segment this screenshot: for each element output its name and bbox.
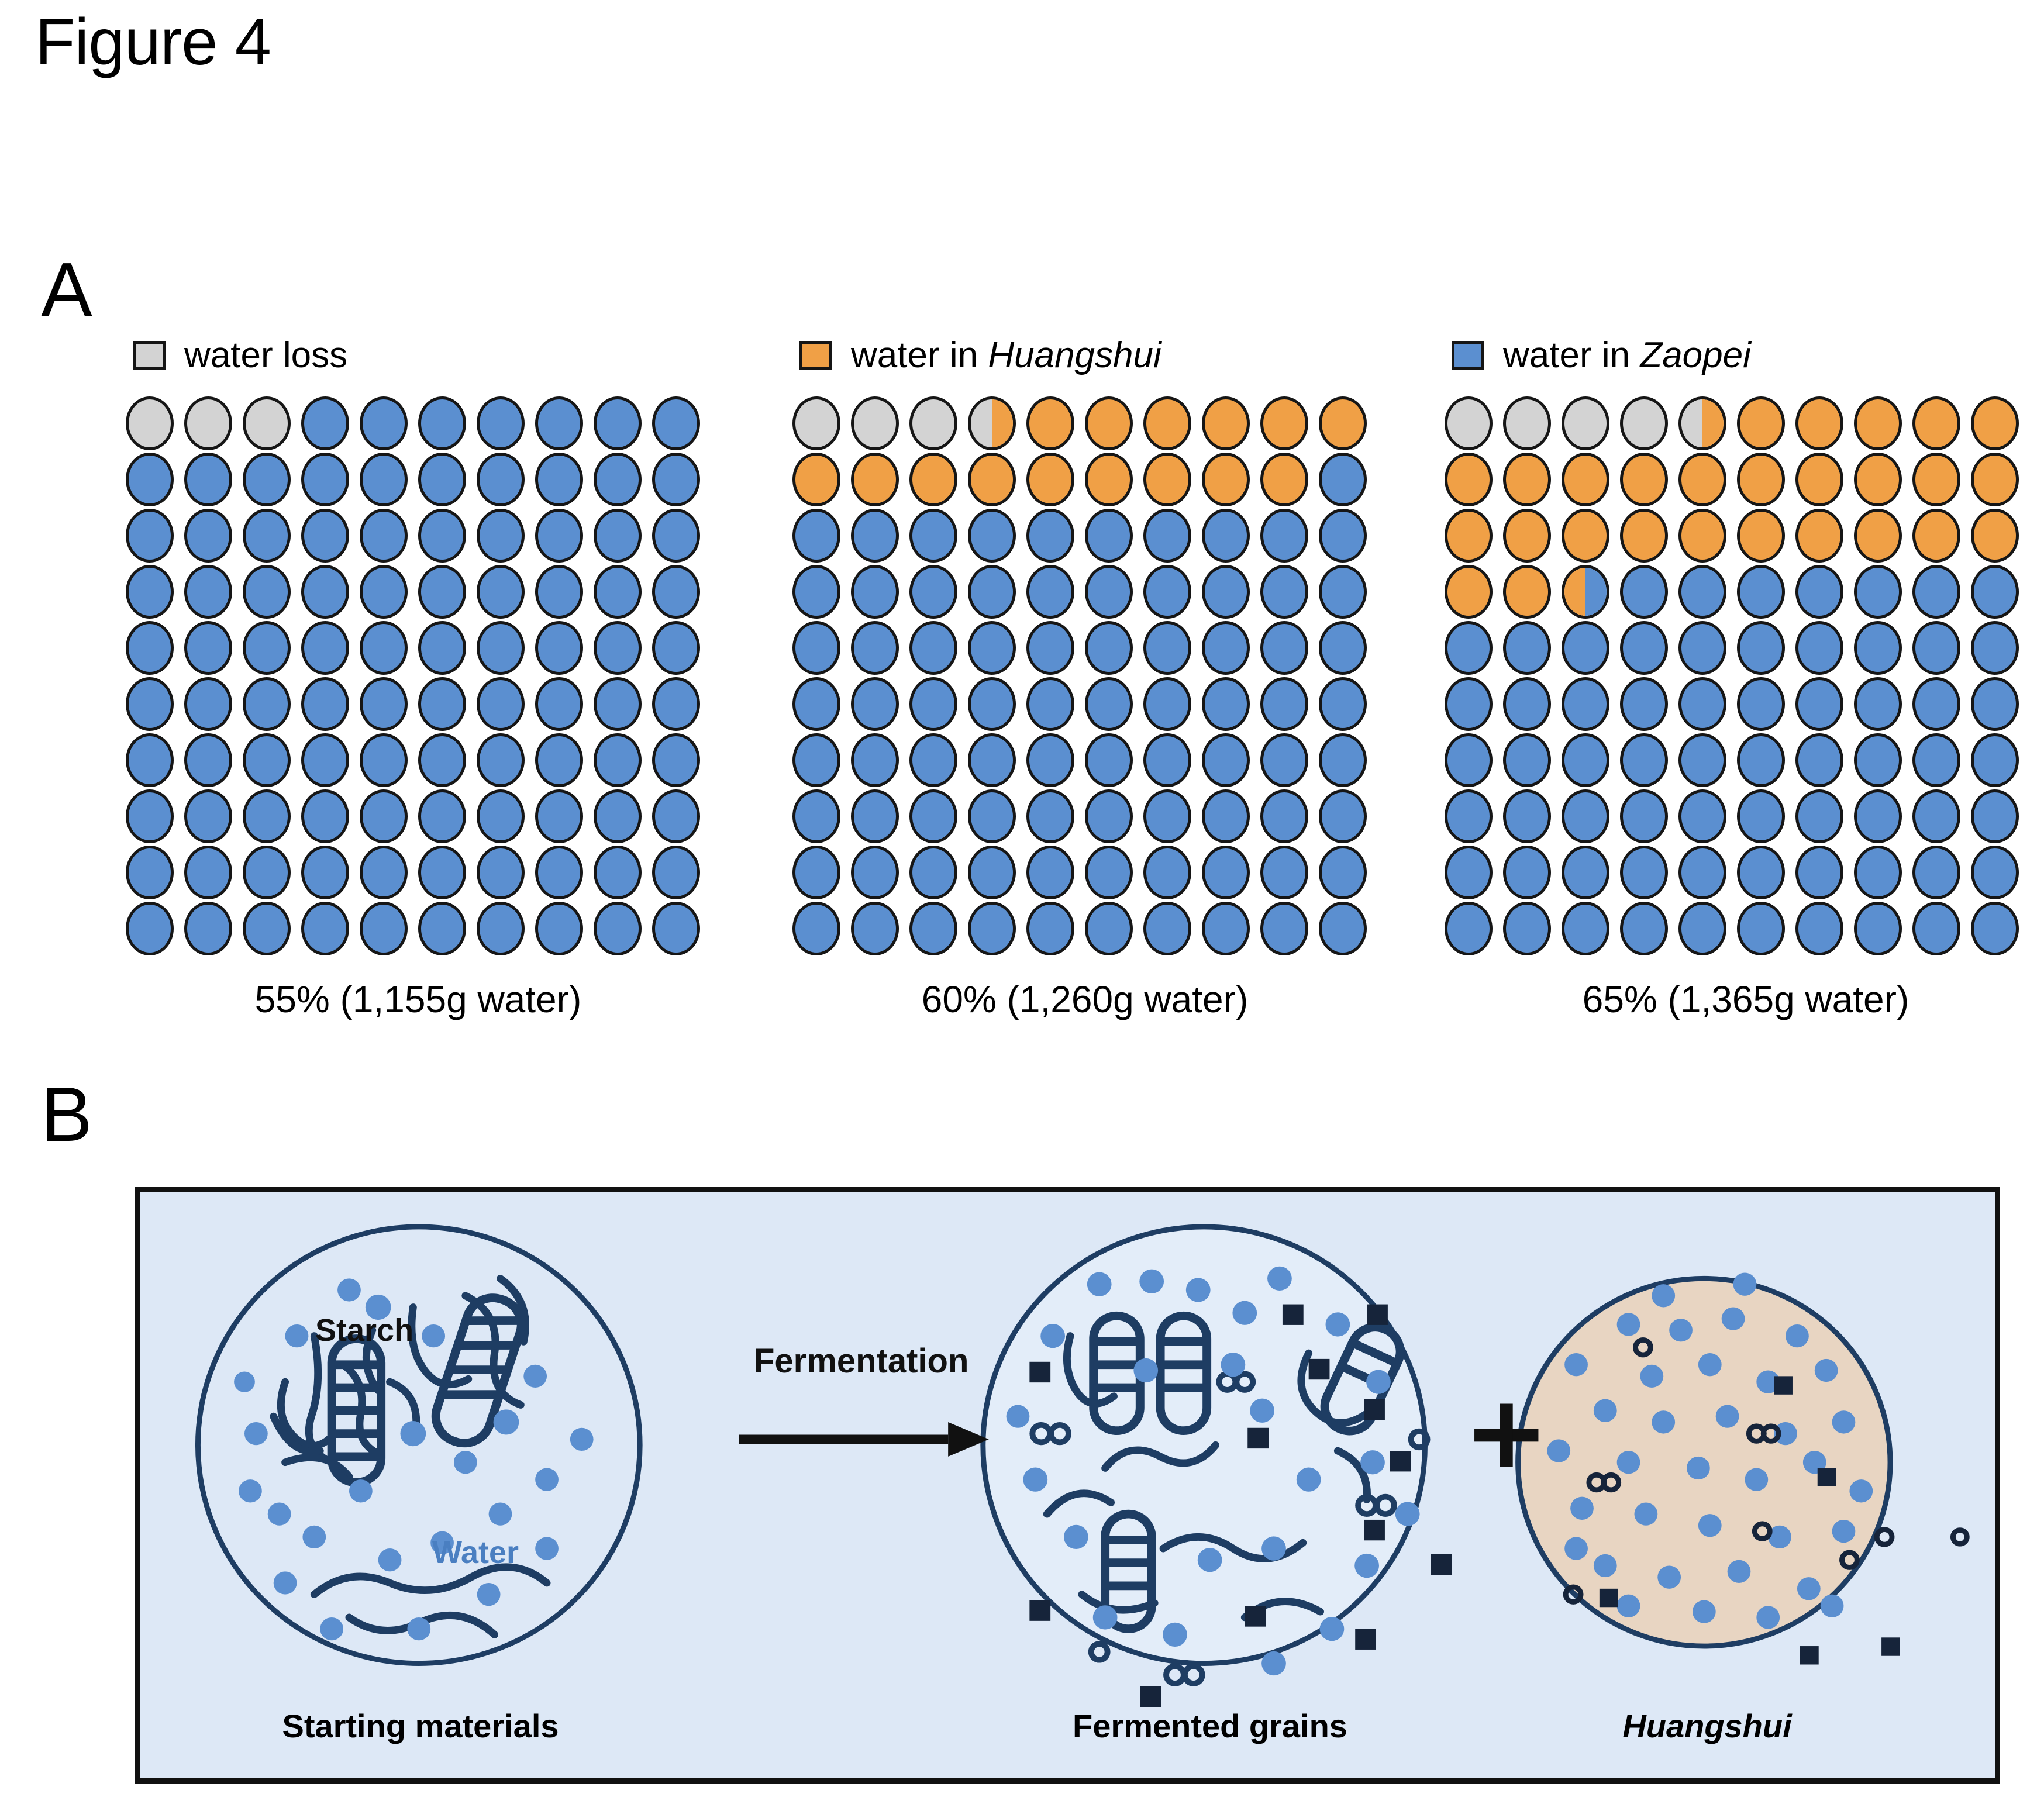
waffle-dot: [968, 453, 1016, 506]
waffle-dot: [301, 677, 349, 731]
waffle-dot: [126, 902, 174, 955]
waffle-dot: [1912, 677, 1960, 731]
waffle-dot: [1202, 846, 1250, 899]
waffle-dot: [1912, 902, 1960, 955]
waffle-dot: [1795, 396, 1843, 450]
waffle-dot: [301, 846, 349, 899]
waffle-dot: [1143, 509, 1191, 563]
waffle-dot: [851, 565, 899, 619]
waffle-dot: [1562, 509, 1609, 563]
waffle-dot: [909, 846, 957, 899]
waffle-dot: [1737, 677, 1785, 731]
waffle-dot: [1912, 565, 1960, 619]
waffle-dot: [1678, 621, 1726, 675]
waffle-dot: [301, 902, 349, 955]
waffle-caption-65: 65% (1,365g water): [1445, 978, 2044, 1021]
legend-swatch-water-in-zaopei: [1452, 341, 1484, 370]
waffle-dot: [418, 396, 466, 450]
waffle-dot: [594, 621, 642, 675]
waffle-dot: [1143, 902, 1191, 955]
waffle-dot: [1085, 733, 1133, 787]
waffle-dot: [535, 396, 583, 450]
waffle-dot: [652, 733, 700, 787]
waffle-dot: [418, 677, 466, 731]
waffle-dot: [1620, 902, 1668, 955]
waffle-dot: [360, 565, 408, 619]
waffle-dot: [243, 677, 291, 731]
waffle-dot: [1795, 677, 1843, 731]
waffle-dot: [1319, 733, 1367, 787]
water-label: Water: [432, 1534, 519, 1571]
waffle-dot: [535, 621, 583, 675]
waffle-dot: [1795, 509, 1843, 563]
waffle-dot: [535, 902, 583, 955]
waffle-dot: [909, 565, 957, 619]
waffle-dot: [968, 677, 1016, 731]
waffle-dot: [243, 565, 291, 619]
waffle-dot: [126, 789, 174, 843]
waffle-dot: [1319, 846, 1367, 899]
waffle-dot: [360, 846, 408, 899]
waffle-dot: [1085, 846, 1133, 899]
waffle-dot: [1026, 789, 1074, 843]
waffle-dot: [1143, 789, 1191, 843]
waffle-dot: [1912, 733, 1960, 787]
waffle-dot: [1026, 902, 1074, 955]
waffle-dot: [1912, 453, 1960, 506]
waffle-dot: [1562, 621, 1609, 675]
waffle-dot: [1737, 453, 1785, 506]
waffle-dot: [851, 509, 899, 563]
waffle-dot: [1854, 902, 1902, 955]
waffle-dot: [1503, 677, 1551, 731]
waffle-dot: [909, 733, 957, 787]
waffle-dot: [652, 565, 700, 619]
waffle-dot: [477, 509, 525, 563]
waffle-dot: [243, 789, 291, 843]
waffle-dot: [1562, 902, 1609, 955]
waffle-dot: [126, 509, 174, 563]
waffle-dot: [1026, 846, 1074, 899]
waffle-dot: [1678, 565, 1726, 619]
waffle-dot: [1737, 565, 1785, 619]
waffle-dot: [968, 565, 1016, 619]
waffle-dot: [184, 677, 232, 731]
waffle-dot: [594, 396, 642, 450]
waffle-dot: [360, 677, 408, 731]
waffle-dot: [1445, 677, 1493, 731]
waffle-dot: [1912, 846, 1960, 899]
waffle-dot: [1202, 621, 1250, 675]
waffle-dot: [851, 621, 899, 675]
waffle-dot: [360, 396, 408, 450]
waffle-dot: [535, 509, 583, 563]
waffle-dot: [652, 453, 700, 506]
waffle-dot: [792, 789, 840, 843]
waffle-dot: [535, 789, 583, 843]
waffle-dot: [1260, 677, 1308, 731]
waffle-dot: [301, 621, 349, 675]
waffle-dot: [909, 396, 957, 450]
waffle-dot: [1202, 396, 1250, 450]
legend-water-in-huangshui: water in Huangshui: [792, 327, 1377, 384]
waffle-dot: [1026, 677, 1074, 731]
waffle-dot: [360, 621, 408, 675]
waffle-dot: [1085, 453, 1133, 506]
waffle-dot: [1562, 453, 1609, 506]
waffle-dot: [1854, 509, 1902, 563]
waffle-dot: [1085, 509, 1133, 563]
waffle-dot: [1854, 846, 1902, 899]
waffle-dot: [1260, 789, 1308, 843]
waffle-dot: [1971, 902, 2019, 955]
waffle-dot: [477, 789, 525, 843]
waffle-dot: [1026, 453, 1074, 506]
waffle-dot: [535, 453, 583, 506]
waffle-dot: [1678, 396, 1726, 450]
waffle-dot: [1445, 733, 1493, 787]
waffle-dot: [792, 846, 840, 899]
waffle-dot: [1503, 396, 1551, 450]
waffle-dot: [909, 789, 957, 843]
waffle-dot: [535, 846, 583, 899]
waffle-grid-55: [126, 396, 711, 958]
waffle-dot: [1678, 902, 1726, 955]
waffle-dot: [535, 733, 583, 787]
waffle-dot: [1854, 453, 1902, 506]
waffle-dot: [1445, 902, 1493, 955]
waffle-dot: [418, 789, 466, 843]
waffle-dot: [1620, 509, 1668, 563]
waffle-dot: [1026, 509, 1074, 563]
waffle-dot: [1260, 453, 1308, 506]
waffle-dot: [1319, 396, 1367, 450]
waffle-dot: [477, 565, 525, 619]
waffle-dot: [851, 453, 899, 506]
caption-huangshui: Huangshui: [1508, 1707, 1906, 1745]
waffle-dot-half-right: [992, 399, 1013, 447]
waffle-dot: [1971, 733, 2019, 787]
waffle-dot: [1795, 789, 1843, 843]
waffle-dot: [184, 453, 232, 506]
waffle-dot: [909, 509, 957, 563]
waffle-dot: [909, 453, 957, 506]
waffle-dot: [968, 846, 1016, 899]
waffle-dot: [301, 733, 349, 787]
waffle-dot: [1085, 621, 1133, 675]
waffle-dot: [909, 621, 957, 675]
waffle-dot: [1319, 677, 1367, 731]
waffle-dot: [792, 509, 840, 563]
waffle-dot: [184, 846, 232, 899]
legend-text-italic: Huangshui: [988, 335, 1161, 375]
waffle-dot: [1971, 677, 2019, 731]
waffle-dot: [1260, 733, 1308, 787]
waffle-dot: [1319, 789, 1367, 843]
waffle-dot: [1737, 902, 1785, 955]
waffle-dot: [652, 789, 700, 843]
waffle-dot: [418, 846, 466, 899]
fermentation-label: Fermentation: [754, 1341, 968, 1381]
waffle-dot: [1854, 677, 1902, 731]
waffle-dot: [594, 565, 642, 619]
waffle-dot: [1795, 902, 1843, 955]
waffle-dot: [418, 902, 466, 955]
legend-label-water-in-huangshui: water in Huangshui: [851, 337, 1161, 374]
waffle-dot: [1854, 565, 1902, 619]
waffle-dot: [909, 902, 957, 955]
waffle-dot: [968, 396, 1016, 450]
legend-text-plain: water in: [851, 335, 988, 375]
waffle-dot: [418, 733, 466, 787]
waffle-dot: [243, 733, 291, 787]
waffle-dot: [594, 509, 642, 563]
waffle-dot: [1202, 453, 1250, 506]
waffle-dot: [1854, 396, 1902, 450]
waffle-dot: [652, 621, 700, 675]
waffle-dot: [418, 621, 466, 675]
waffle-dot: [1562, 789, 1609, 843]
waffle-dot: [1562, 846, 1609, 899]
waffle-dot: [1854, 733, 1902, 787]
waffle-dot: [301, 396, 349, 450]
waffle-column-55: water loss 55% (1,155g water): [126, 327, 711, 1021]
waffle-dot: [535, 565, 583, 619]
panel-b: Starch Water Fermentation Starting mater…: [135, 1187, 2000, 1784]
waffle-grid-65: [1445, 396, 2044, 958]
waffle-dot: [1678, 846, 1726, 899]
waffle-dot: [1562, 565, 1609, 619]
waffle-dot: [1795, 846, 1843, 899]
waffle-dot: [1026, 396, 1074, 450]
waffle-dot: [184, 396, 232, 450]
waffle-dot: [1445, 453, 1493, 506]
waffle-dot: [1503, 846, 1551, 899]
waffle-dot: [652, 396, 700, 450]
waffle-dot: [594, 902, 642, 955]
waffle-caption-60: 60% (1,260g water): [792, 978, 1377, 1021]
waffle-dot: [851, 902, 899, 955]
waffle-dot: [477, 733, 525, 787]
waffle-column-60: water in Huangshui 60% (1,260g water): [792, 327, 1377, 1021]
panel-a-letter: A: [41, 251, 92, 329]
waffle-grid-60: [792, 396, 1377, 958]
waffle-dot: [1143, 846, 1191, 899]
waffle-dot: [477, 677, 525, 731]
waffle-dot: [851, 789, 899, 843]
waffle-dot: [792, 453, 840, 506]
waffle-dot: [1260, 396, 1308, 450]
fermentation-arrow: [739, 1422, 989, 1457]
waffle-dot: [792, 621, 840, 675]
waffle-dot: [1678, 789, 1726, 843]
waffle-dot: [792, 733, 840, 787]
waffle-dot-half-right: [1702, 399, 1724, 447]
waffle-dot-half-left: [971, 399, 992, 447]
waffle-dot-half-right: [1585, 568, 1607, 616]
waffle-dot: [792, 902, 840, 955]
waffle-dot: [1445, 396, 1493, 450]
waffle-dot: [594, 846, 642, 899]
waffle-dot: [1260, 509, 1308, 563]
waffle-dot: [1795, 565, 1843, 619]
waffle-dot-half-left: [1564, 568, 1585, 616]
waffle-dot: [1202, 733, 1250, 787]
waffle-dot: [1202, 565, 1250, 619]
waffle-dot: [1143, 677, 1191, 731]
waffle-dot: [1445, 846, 1493, 899]
waffle-dot: [1678, 733, 1726, 787]
waffle-dot: [1026, 565, 1074, 619]
waffle-dot: [418, 453, 466, 506]
waffle-dot: [851, 846, 899, 899]
waffle-dot: [1620, 396, 1668, 450]
waffle-dot: [1795, 621, 1843, 675]
waffle-dot: [1620, 565, 1668, 619]
waffle-dot: [243, 509, 291, 563]
waffle-dot: [1971, 396, 2019, 450]
waffle-dot: [1085, 396, 1133, 450]
waffle-dot: [1737, 789, 1785, 843]
waffle-dot: [968, 789, 1016, 843]
panel-b-letter: B: [41, 1076, 92, 1153]
waffle-dot: [594, 677, 642, 731]
waffle-dot: [968, 902, 1016, 955]
waffle-dot: [968, 733, 1016, 787]
waffle-dot: [1260, 846, 1308, 899]
caption-fermented-grains: Fermented grains: [976, 1707, 1444, 1745]
waffle-dot: [1319, 509, 1367, 563]
legend-swatch-water-loss: [133, 341, 166, 370]
waffle-dot: [1737, 621, 1785, 675]
waffle-dot: [1319, 902, 1367, 955]
waffle-dot: [652, 509, 700, 563]
waffle-dot: [1143, 396, 1191, 450]
waffle-dot: [126, 621, 174, 675]
waffle-dot: [360, 902, 408, 955]
waffle-dot: [1737, 509, 1785, 563]
waffle-dot: [1085, 677, 1133, 731]
waffle-dot: [909, 677, 957, 731]
legend-text-plain: water loss: [184, 335, 347, 375]
waffle-dot: [1319, 621, 1367, 675]
waffle-dot: [126, 453, 174, 506]
waffle-dot: [184, 902, 232, 955]
waffle-dot: [243, 846, 291, 899]
waffle-dot: [1503, 621, 1551, 675]
waffle-dot: [1202, 509, 1250, 563]
waffle-dot: [243, 396, 291, 450]
waffle-dot: [126, 846, 174, 899]
waffle-dot: [1445, 565, 1493, 619]
waffle-dot: [968, 621, 1016, 675]
waffle-dot: [301, 789, 349, 843]
legend-text-italic: Zaopei: [1640, 335, 1751, 375]
waffle-dot: [1085, 565, 1133, 619]
legend-water-in-zaopei: water in Zaopei: [1445, 327, 2044, 384]
waffle-dot: [477, 453, 525, 506]
waffle-dot: [360, 509, 408, 563]
waffle-dot: [1678, 453, 1726, 506]
waffle-dot: [418, 565, 466, 619]
waffle-dot: [184, 621, 232, 675]
waffle-dot: [535, 677, 583, 731]
starch-label: Starch: [315, 1312, 413, 1348]
waffle-dot: [360, 453, 408, 506]
waffle-dot: [1143, 453, 1191, 506]
waffle-dot: [1678, 677, 1726, 731]
waffle-dot: [1795, 453, 1843, 506]
waffle-dot: [184, 509, 232, 563]
waffle-dot: [1620, 846, 1668, 899]
waffle-dot: [1085, 902, 1133, 955]
waffle-dot: [301, 509, 349, 563]
waffle-dot: [1445, 789, 1493, 843]
panel-a: water loss 55% (1,155g water) water in H…: [0, 327, 2044, 1064]
waffle-dot: [1503, 733, 1551, 787]
waffle-dot: [1260, 621, 1308, 675]
waffle-dot: [243, 902, 291, 955]
figure-title: Figure 4: [35, 6, 271, 78]
waffle-dot: [1143, 733, 1191, 787]
waffle-dot: [1620, 677, 1668, 731]
waffle-dot: [243, 453, 291, 506]
waffle-dot: [594, 733, 642, 787]
waffle-dot: [1620, 621, 1668, 675]
waffle-dot: [184, 565, 232, 619]
waffle-dot: [1143, 621, 1191, 675]
waffle-dot: [126, 677, 174, 731]
waffle-dot: [1085, 789, 1133, 843]
waffle-dot: [594, 789, 642, 843]
waffle-dot: [126, 565, 174, 619]
waffle-dot: [1971, 846, 2019, 899]
waffle-dot: [968, 509, 1016, 563]
waffle-column-65: water in Zaopei 65% (1,365g water): [1445, 327, 2044, 1021]
waffle-dot: [301, 453, 349, 506]
waffle-dot: [301, 565, 349, 619]
waffle-dot: [477, 846, 525, 899]
waffle-dot: [1971, 621, 2019, 675]
waffle-dot: [1445, 621, 1493, 675]
waffle-dot: [1795, 733, 1843, 787]
legend-water-loss: water loss: [126, 327, 711, 384]
waffle-dot: [1737, 396, 1785, 450]
waffle-dot: [477, 396, 525, 450]
waffle-dot: [652, 677, 700, 731]
waffle-dot: [360, 733, 408, 787]
waffle-dot: [1620, 733, 1668, 787]
waffle-dot: [1678, 509, 1726, 563]
waffle-dot: [126, 733, 174, 787]
waffle-dot: [1854, 789, 1902, 843]
waffle-dot: [1319, 565, 1367, 619]
waffle-dot: [243, 621, 291, 675]
waffle-dot: [1445, 509, 1493, 563]
waffle-dot: [184, 733, 232, 787]
waffle-dot: [1026, 733, 1074, 787]
legend-label-water-loss: water loss: [184, 337, 347, 374]
waffle-dot: [652, 846, 700, 899]
legend-label-water-in-zaopei: water in Zaopei: [1503, 337, 1751, 374]
waffle-dot: [1503, 509, 1551, 563]
waffle-dot: [1026, 621, 1074, 675]
waffle-dot: [1971, 453, 2019, 506]
waffle-dot: [184, 789, 232, 843]
waffle-dot: [1260, 902, 1308, 955]
waffle-dot: [1143, 565, 1191, 619]
waffle-dot: [1737, 846, 1785, 899]
